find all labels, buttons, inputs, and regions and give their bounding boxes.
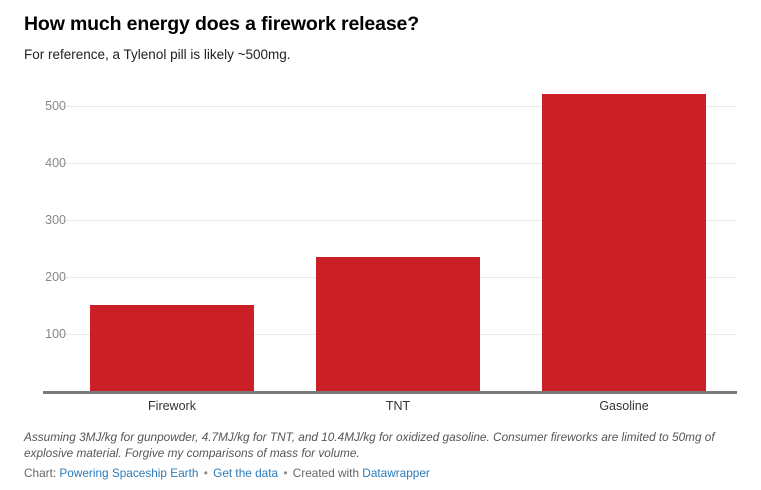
x-axis-tick-label: TNT (285, 398, 511, 414)
bar[interactable] (316, 257, 480, 391)
chart-container: How much energy does a firework release?… (0, 0, 761, 490)
credit-separator-1: • (202, 466, 210, 480)
chart-notes: Assuming 3MJ/kg for gunpowder, 4.7MJ/kg … (24, 430, 736, 461)
plot-area: 100200300400500 FireworkTNTGasoline (0, 0, 761, 420)
datawrapper-link[interactable]: Datawrapper (362, 466, 430, 480)
x-axis-tick-label: Gasoline (511, 398, 737, 414)
bar[interactable] (542, 94, 706, 391)
source-link[interactable]: Powering Spaceship Earth (59, 466, 198, 480)
x-axis-tick-label: Firework (59, 398, 285, 414)
created-with-label: Created with (293, 466, 359, 480)
x-axis-baseline (43, 391, 737, 394)
bars-layer (0, 0, 761, 420)
chart-credit: Chart: Powering Spaceship Earth • Get th… (24, 466, 430, 481)
bar[interactable] (90, 305, 254, 391)
credit-prefix: Chart: (24, 466, 56, 480)
get-the-data-link[interactable]: Get the data (213, 466, 278, 480)
credit-separator-2: • (281, 466, 289, 480)
